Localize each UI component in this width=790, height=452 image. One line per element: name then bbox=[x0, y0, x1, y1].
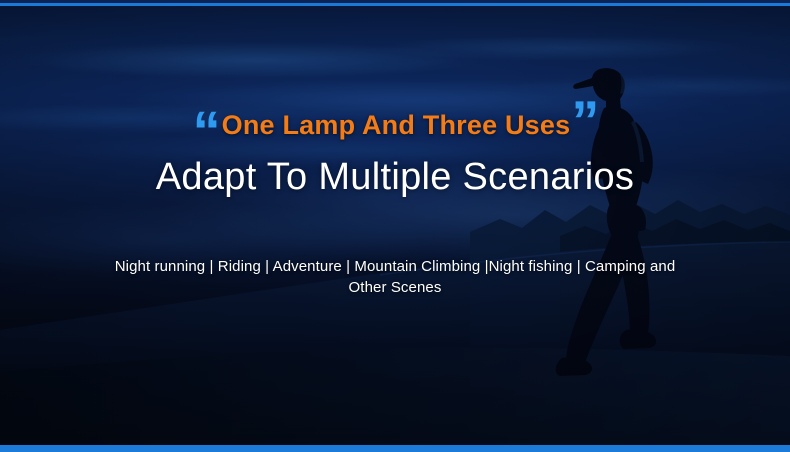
headline-row: “ One Lamp And Three Uses ” bbox=[0, 104, 790, 146]
promo-banner: “ One Lamp And Three Uses ” Adapt To Mul… bbox=[0, 0, 790, 452]
banner-content: “ One Lamp And Three Uses ” Adapt To Mul… bbox=[0, 0, 790, 452]
quote-close-icon: ” bbox=[571, 93, 597, 149]
subheadline-text: Adapt To Multiple Scenarios bbox=[0, 155, 790, 200]
quote-open-icon: “ bbox=[193, 103, 219, 159]
headline-text: One Lamp And Three Uses bbox=[222, 112, 571, 139]
scenes-list-text: Night running | Riding | Adventure | Mou… bbox=[110, 256, 680, 299]
